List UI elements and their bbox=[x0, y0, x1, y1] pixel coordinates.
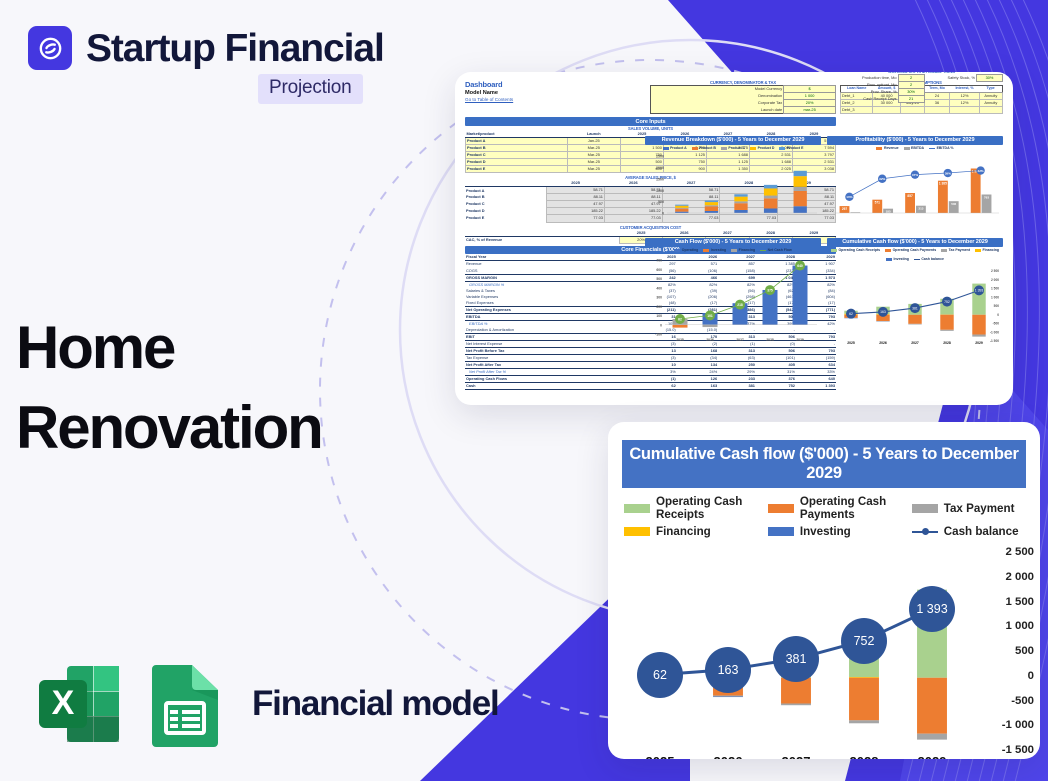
svg-text:297: 297 bbox=[842, 207, 848, 211]
svg-text:10%: 10% bbox=[846, 195, 852, 199]
y-tick: 1 500 bbox=[1005, 596, 1034, 608]
table-row: Cash621633817521 393 bbox=[465, 383, 836, 390]
svg-text:2 500: 2 500 bbox=[991, 269, 999, 273]
google-sheets-icon bbox=[146, 658, 224, 750]
legend-item: EBITDA bbox=[904, 146, 925, 150]
svg-text:700: 700 bbox=[656, 258, 662, 262]
profitability-plot: 297315711858573131 3855061 90779310%32%3… bbox=[827, 152, 1003, 222]
cumulative-cash-flow-plot-mini: 2 5002 0001 5001 0005000-500-1 000-1 500… bbox=[827, 263, 1003, 355]
big-chart-svg bbox=[608, 540, 1040, 759]
legend-item: Product A bbox=[663, 146, 687, 150]
svg-text:600: 600 bbox=[656, 268, 662, 272]
profitability-title: Profitability ($'000) - 5 Years to Decem… bbox=[827, 136, 1003, 145]
table-row: Prov. Share, %30% bbox=[840, 89, 1003, 96]
svg-text:1500: 1500 bbox=[656, 177, 664, 181]
svg-text:62: 62 bbox=[678, 317, 682, 321]
svg-text:2500: 2500 bbox=[656, 154, 664, 158]
data-label-node: 381 bbox=[773, 636, 819, 682]
y-tick: -1 500 bbox=[1002, 744, 1034, 756]
table-row: Corporate Tax20% bbox=[651, 100, 836, 107]
legend-item: Cash balance bbox=[914, 257, 944, 261]
table-row: Operating Cash Flows(1)126233376640 bbox=[465, 376, 836, 383]
svg-text:39%: 39% bbox=[945, 171, 951, 175]
currency-table: Model Currency$Denomination1 000Corporat… bbox=[650, 85, 836, 114]
svg-text:640: 640 bbox=[797, 264, 803, 268]
svg-text:752: 752 bbox=[944, 300, 950, 304]
svg-text:-100: -100 bbox=[655, 332, 662, 336]
circular-s-logo-icon bbox=[28, 26, 72, 70]
dashboard-sheet: Dashboard Model Name Go to Table of Cont… bbox=[455, 72, 1013, 405]
page-title-line2: Renovation bbox=[16, 388, 322, 468]
y-tick: 1 000 bbox=[1005, 620, 1034, 632]
legend-financing: Financing bbox=[624, 525, 768, 538]
microsoft-excel-icon: X bbox=[34, 658, 126, 750]
table-row: Prov. upfront, Mo2 bbox=[840, 82, 1003, 89]
svg-text:1 000: 1 000 bbox=[991, 295, 999, 299]
format-badge-label: Financial model bbox=[252, 684, 499, 724]
svg-text:1 393: 1 393 bbox=[975, 288, 984, 292]
legend-item: Operating Cash Receipts bbox=[831, 248, 880, 252]
legend-item: Product D bbox=[750, 146, 774, 150]
legend-item: Product B bbox=[692, 146, 716, 150]
table-row: Net Profit Before Tax13168313506793 bbox=[465, 348, 836, 355]
legend-tax-payment: Tax Payment bbox=[912, 495, 1024, 521]
y-tick: 500 bbox=[1015, 645, 1034, 657]
revenue-breakdown-plot: 25002000150010005000 bbox=[645, 152, 821, 222]
legend-item: EBITDA % bbox=[929, 146, 953, 150]
table-row: Net Profit After Tax %3%24%29%31%33% bbox=[465, 369, 836, 376]
legend-item: Financing bbox=[731, 248, 755, 252]
svg-text:300: 300 bbox=[656, 295, 662, 299]
svg-text:500: 500 bbox=[994, 304, 1000, 308]
svg-text:31: 31 bbox=[854, 213, 858, 217]
toc-link[interactable]: Go to Table of Contents bbox=[465, 97, 646, 102]
big-chart-plot: 2 5002 0001 5001 0005000-500-1 000-1 500… bbox=[608, 540, 1040, 759]
legend-item: Revenue bbox=[876, 146, 898, 150]
table-row: Net Profit After Tax10134250405634 bbox=[465, 362, 836, 369]
svg-text:1000: 1000 bbox=[656, 189, 664, 193]
svg-text:62: 62 bbox=[849, 312, 853, 316]
svg-text:2025: 2025 bbox=[676, 338, 684, 342]
legend-item: Financing bbox=[975, 248, 999, 252]
svg-text:0: 0 bbox=[997, 313, 999, 317]
legend-item: Net Cash Flow bbox=[760, 248, 792, 252]
big-chart-legend: Operating Cash Receipts Operating Cash P… bbox=[624, 495, 1024, 538]
table-row: Denomination1 000 bbox=[651, 93, 836, 100]
format-badges: X Financial model bbox=[34, 658, 499, 750]
legend-investing: Investing bbox=[768, 525, 912, 538]
cash-flow-plot: 7006005004003002001000-10020252026202720… bbox=[645, 254, 821, 346]
x-tick: 2029 bbox=[918, 754, 947, 759]
y-tick: -1 000 bbox=[1002, 719, 1034, 731]
table-row: Launch datemar-25 bbox=[651, 107, 836, 114]
svg-text:571: 571 bbox=[875, 200, 881, 204]
y-tick: 0 bbox=[1028, 670, 1034, 682]
legend-item: Product C bbox=[721, 146, 745, 150]
svg-text:37%: 37% bbox=[912, 173, 918, 177]
cumulative-cash-flow-chart-mini: Cumulative Cash flow ($'000) - 5 Years t… bbox=[827, 238, 1003, 356]
svg-text:2027: 2027 bbox=[911, 341, 919, 345]
y-tick: 2 000 bbox=[1005, 571, 1034, 583]
data-label-node: 1 393 bbox=[909, 586, 955, 632]
svg-text:2028: 2028 bbox=[766, 338, 774, 342]
svg-text:-1 000: -1 000 bbox=[990, 330, 999, 334]
svg-text:2000: 2000 bbox=[656, 166, 664, 170]
svg-text:2029: 2029 bbox=[975, 341, 983, 345]
legend-item: Operating bbox=[674, 248, 698, 252]
svg-text:42%: 42% bbox=[977, 169, 983, 173]
cumulative-cash-flow-title-mini: Cumulative Cash flow ($'000) - 5 Years t… bbox=[827, 238, 1003, 247]
svg-text:2 000: 2 000 bbox=[991, 278, 999, 282]
svg-text:X: X bbox=[52, 684, 75, 722]
svg-text:381: 381 bbox=[912, 306, 918, 310]
brand-subtitle: Projection bbox=[258, 74, 363, 104]
svg-text:2029: 2029 bbox=[796, 338, 804, 342]
legend-operating-cash-receipts: Operating Cash Receipts bbox=[624, 495, 768, 521]
svg-text:-500: -500 bbox=[993, 321, 1000, 325]
dashboard-left-column: Dashboard Model Name Go to Table of Cont… bbox=[465, 80, 646, 114]
brand-logo: Startup Financial bbox=[28, 26, 384, 70]
svg-text:32%: 32% bbox=[879, 177, 885, 181]
legend-item: Investing bbox=[886, 257, 909, 261]
legend-item: Operating Cash Payments bbox=[885, 248, 936, 252]
data-label-node: 62 bbox=[637, 652, 683, 698]
table-row: Production time, Mo2Safety Stock, %30% bbox=[840, 75, 1003, 82]
svg-text:2026: 2026 bbox=[879, 341, 887, 345]
svg-text:100: 100 bbox=[656, 314, 662, 318]
x-tick: 2026 bbox=[714, 754, 743, 759]
svg-text:500: 500 bbox=[656, 277, 662, 281]
y-tick: -500 bbox=[1011, 695, 1034, 707]
x-tick: 2027 bbox=[782, 754, 811, 759]
legend-item: Tax Payment bbox=[941, 248, 970, 252]
svg-text:2026: 2026 bbox=[706, 338, 714, 342]
page-title-line1: Home bbox=[16, 308, 322, 388]
dashboard-title: Dashboard bbox=[465, 80, 646, 89]
currency-assumptions-block: CURRENCY, DENOMINATOR & TAX Model Curren… bbox=[650, 80, 836, 114]
y-tick: 2 500 bbox=[1005, 546, 1034, 558]
data-label-node: 163 bbox=[705, 647, 751, 693]
svg-text:793: 793 bbox=[984, 195, 989, 199]
revenue-breakdown-chart: Revenue Breakdown ($'000) - 5 Years to D… bbox=[645, 136, 821, 223]
data-label-node: 752 bbox=[841, 618, 887, 664]
svg-text:506: 506 bbox=[951, 202, 956, 206]
revenue-breakdown-title: Revenue Breakdown ($'000) - 5 Years to D… bbox=[645, 136, 821, 145]
svg-text:2028: 2028 bbox=[943, 341, 951, 345]
x-tick: 2028 bbox=[850, 754, 879, 759]
cumulative-cash-flow-card[interactable]: Cumulative Cash flow ($'000) - 5 Years t… bbox=[608, 422, 1040, 759]
svg-text:1 500: 1 500 bbox=[991, 286, 999, 290]
svg-text:500: 500 bbox=[658, 200, 664, 204]
svg-text:101: 101 bbox=[707, 314, 713, 318]
model-name: Model Name bbox=[465, 90, 646, 96]
big-chart-title: Cumulative Cash flow ($'000) - 5 Years t… bbox=[622, 440, 1026, 488]
cash-flow-chart: Cash Flow ($'000) - 5 Years to December … bbox=[645, 238, 821, 347]
x-tick: 2025 bbox=[646, 754, 675, 759]
legend-cash-balance: Cash balance bbox=[912, 525, 1024, 538]
page-title: Home Renovation bbox=[16, 308, 322, 468]
table-row: Tax Expense(3)(34)(63)(101)(159) bbox=[465, 355, 836, 362]
legend-operating-cash-payments: Operating Cash Payments bbox=[768, 495, 912, 521]
core-inputs-header: Core Inputs bbox=[465, 117, 836, 126]
svg-text:218: 218 bbox=[737, 303, 743, 307]
svg-text:0: 0 bbox=[660, 323, 662, 327]
svg-text:1 385: 1 385 bbox=[939, 181, 947, 185]
svg-text:313: 313 bbox=[918, 206, 923, 210]
profitability-chart: Profitability ($'000) - 5 Years to Decem… bbox=[827, 136, 1003, 223]
table-row: Model Currency$ bbox=[651, 86, 836, 93]
table-row: Cash Receipt Days21 bbox=[840, 96, 1003, 103]
brand-name: Startup Financial bbox=[86, 29, 384, 68]
svg-text:200: 200 bbox=[656, 305, 662, 309]
svg-text:-1 500: -1 500 bbox=[990, 339, 999, 343]
svg-text:375: 375 bbox=[767, 288, 773, 292]
svg-text:2027: 2027 bbox=[736, 338, 744, 342]
cash-flow-title: Cash Flow ($'000) - 5 Years to December … bbox=[645, 238, 821, 247]
svg-text:163: 163 bbox=[880, 310, 886, 314]
svg-text:0: 0 bbox=[662, 211, 664, 215]
legend-item: Product E bbox=[779, 146, 803, 150]
legend-item: Investing bbox=[703, 248, 726, 252]
dashboard-screenshot-card[interactable]: Dashboard Model Name Go to Table of Cont… bbox=[455, 72, 1013, 405]
svg-text:400: 400 bbox=[656, 286, 662, 290]
svg-text:2025: 2025 bbox=[847, 341, 855, 345]
svg-text:857: 857 bbox=[907, 194, 913, 198]
working-capital-table: Production time, Mo2Safety Stock, %30%Pr… bbox=[840, 74, 1003, 103]
